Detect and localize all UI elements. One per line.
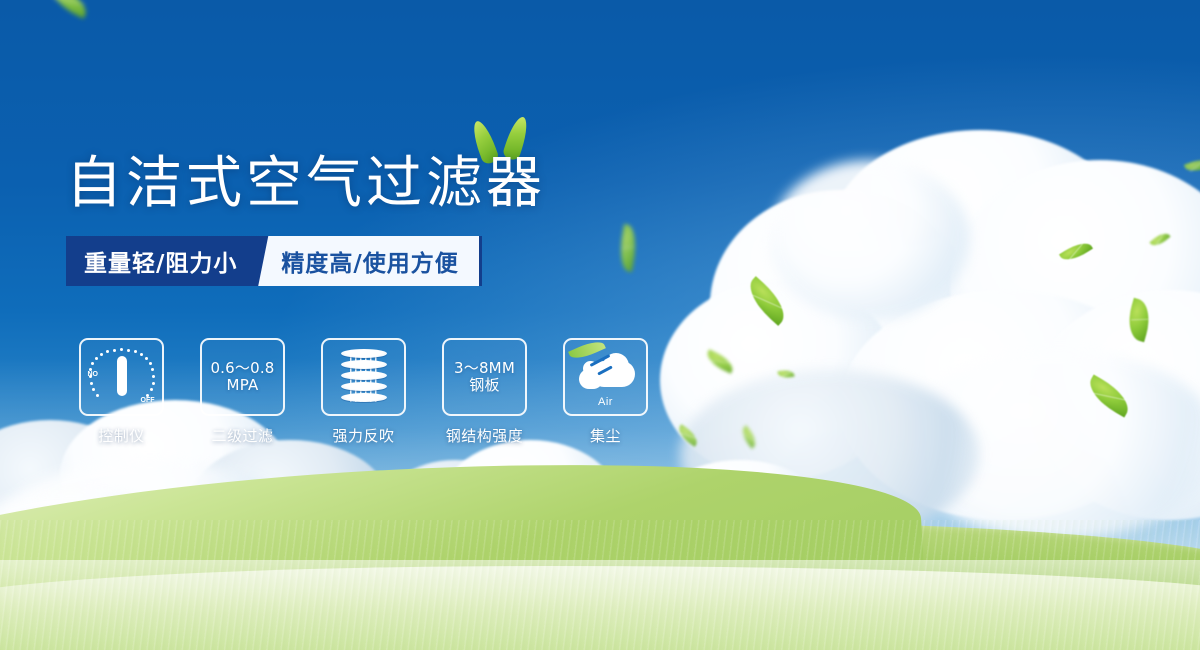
steel-plate-text-icon: 3〜8MM 钢板 [454, 360, 515, 394]
pressure-unit-value: MPA [210, 377, 274, 394]
gauge-dial-icon: NO OFF [89, 347, 155, 407]
steel-thickness-value: 3〜8MM [454, 360, 515, 377]
air-cloud-icon: Air [575, 349, 637, 405]
feature-item-dust-collection[interactable]: Air 集尘 [565, 338, 646, 446]
subtitle-badge-left: 重量轻/阻力小 [66, 236, 253, 286]
page-title: 自洁式空气过滤器 [66, 138, 546, 219]
gauge-label-off: OFF [141, 397, 155, 404]
feature-icon-box: Air [563, 338, 648, 416]
product-hero-banner: 自洁式空气过滤器 重量轻/阻力小 精度高/使用方便 [0, 0, 1200, 650]
feature-icon-box: 3〜8MM 钢板 [442, 338, 527, 416]
feature-label: 钢结构强度 [446, 425, 524, 446]
feature-label: 集尘 [590, 425, 621, 446]
feature-icon-box: 0.6〜0.8 MPA [200, 338, 285, 416]
feature-item-strong-blowback[interactable]: 强力反吹 [323, 338, 404, 446]
feature-label: 控制仪 [98, 425, 145, 446]
feature-label: 强力反吹 [332, 425, 394, 446]
filter-cartridge-icon [341, 349, 387, 405]
gauge-needle-icon [117, 356, 127, 396]
feature-item-controller[interactable]: NO OFF 控制仪 [81, 338, 162, 446]
feature-icon-row: NO OFF 控制仪 0.6〜0.8 MPA 二级过滤 [81, 338, 646, 446]
subtitle-badge-bar: 重量轻/阻力小 精度高/使用方便 [66, 236, 482, 286]
pressure-range-value: 0.6〜0.8 [210, 360, 274, 377]
feature-item-two-stage-filter[interactable]: 0.6〜0.8 MPA 二级过滤 [202, 338, 283, 446]
pressure-text-icon: 0.6〜0.8 MPA [210, 360, 274, 394]
feature-item-steel-strength[interactable]: 3〜8MM 钢板 钢结构强度 [444, 338, 525, 446]
air-label: Air [575, 396, 637, 408]
grass-texture-overlay [0, 520, 1200, 650]
subtitle-badge-right: 精度高/使用方便 [277, 236, 481, 286]
feature-icon-box: NO OFF [79, 338, 164, 416]
steel-plate-label: 钢板 [454, 377, 515, 394]
gauge-label-no: NO [88, 371, 99, 378]
subtitle-badge-divider [253, 236, 277, 286]
feature-label: 二级过滤 [211, 425, 273, 446]
feature-icon-box [321, 338, 406, 416]
